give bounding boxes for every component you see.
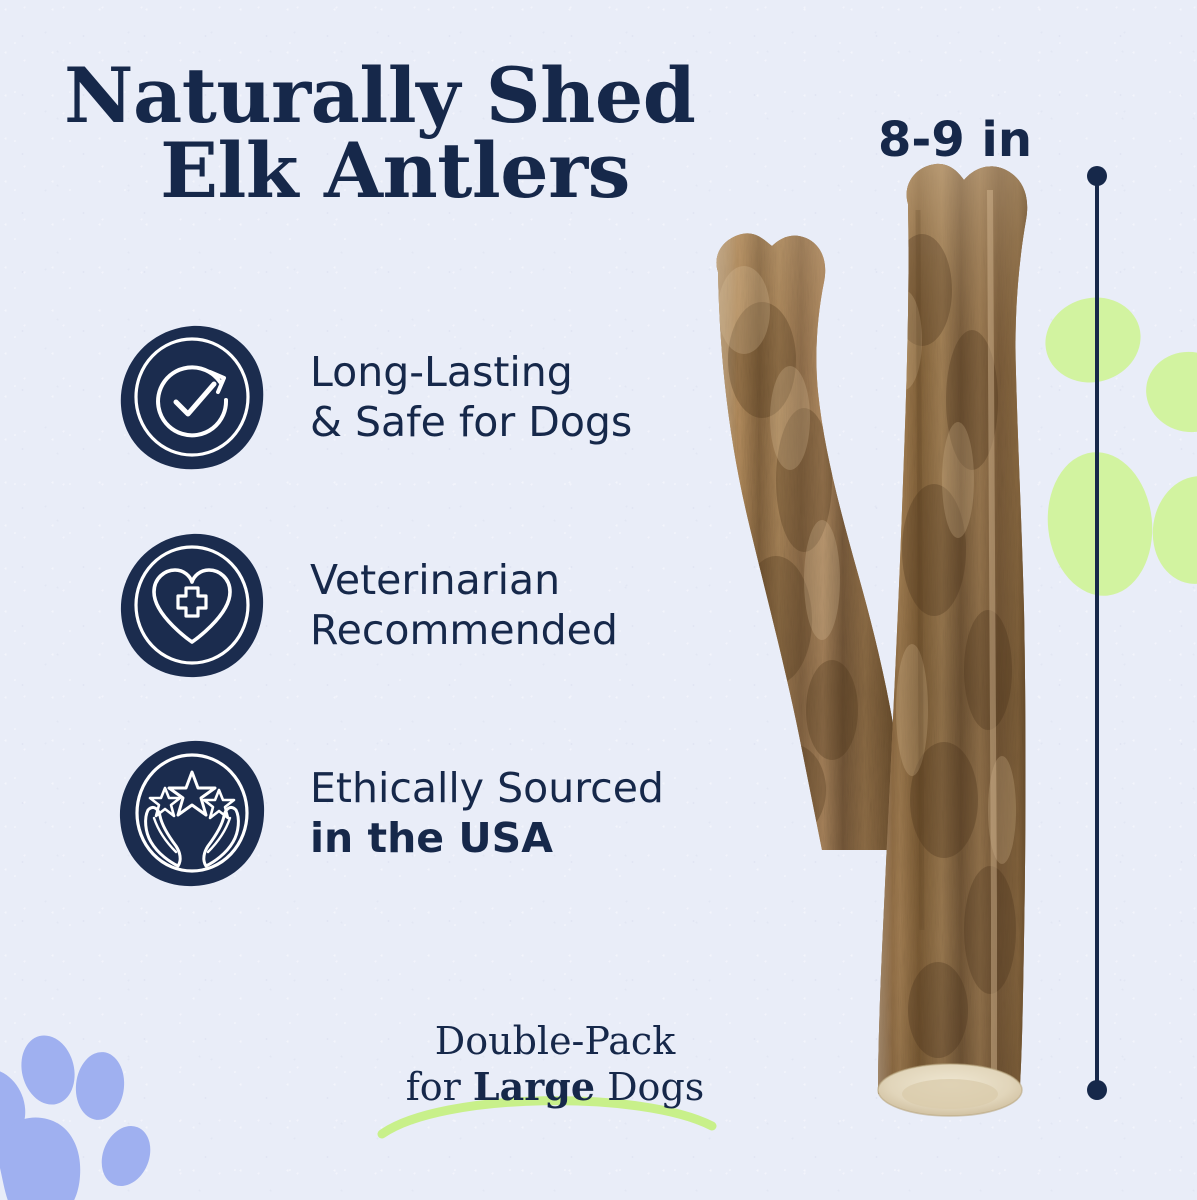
- headline-line-1: Naturally Shed: [64, 58, 784, 133]
- size-label: 8-9 in: [878, 112, 1032, 168]
- feature-list: Long-Lasting & Safe for Dogs Veterinaria…: [118, 322, 664, 946]
- feature-text: Ethically Sourced in the USA: [310, 763, 664, 863]
- infographic-canvas: Naturally Shed Elk Antlers 8-9 in: [0, 0, 1197, 1200]
- feature-item: Long-Lasting & Safe for Dogs: [118, 322, 664, 472]
- page-title: Naturally Shed Elk Antlers: [64, 58, 784, 208]
- caption-line-2: for Large Dogs: [380, 1064, 730, 1110]
- feature-line-2: in the USA: [310, 814, 553, 862]
- antler-cut-end: [878, 1064, 1022, 1116]
- vertical-measurement-line: [1080, 160, 1116, 1125]
- feature-line-2: Recommended: [310, 606, 618, 654]
- elk-antler-product-image: [672, 150, 1092, 1145]
- hands-holding-stars-icon: [118, 738, 266, 888]
- caption-line-2-bold: Large: [473, 1064, 595, 1109]
- product-caption: Double-Pack for Large Dogs: [380, 1018, 730, 1111]
- feature-item: Ethically Sourced in the USA: [118, 738, 664, 888]
- feature-line-1: Ethically Sourced: [310, 764, 664, 812]
- caption-line-2-suffix: Dogs: [595, 1065, 704, 1109]
- caption-line-1: Double-Pack: [380, 1018, 730, 1064]
- feature-line-1: Veterinarian: [310, 556, 560, 604]
- refresh-check-icon: [118, 322, 266, 472]
- caption-line-2-prefix: for: [406, 1065, 473, 1109]
- feature-line-1: Long-Lasting: [310, 348, 573, 396]
- feature-text: Veterinarian Recommended: [310, 555, 618, 655]
- paw-print-blue-icon: [0, 1018, 186, 1200]
- feature-line-2: & Safe for Dogs: [310, 398, 632, 446]
- feature-item: Veterinarian Recommended: [118, 530, 664, 680]
- feature-text: Long-Lasting & Safe for Dogs: [310, 347, 632, 447]
- headline-line-2: Elk Antlers: [64, 133, 784, 208]
- heart-medical-cross-icon: [118, 530, 266, 680]
